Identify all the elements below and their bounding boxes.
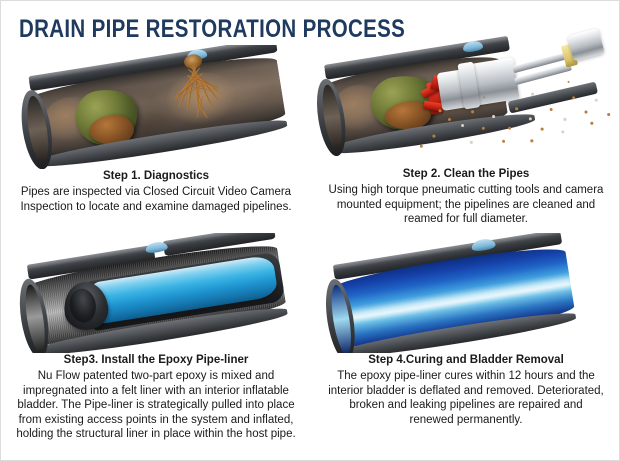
step-1-body: Pipes are inspected via Closed Circuit V… [9, 185, 303, 214]
step-panel-3: Step3. Install the Epoxy Pipe-liner Nu F… [1, 233, 311, 442]
step-2-heading: Step 2. Clean the Pipes [321, 167, 611, 182]
step-4-body: The epoxy pipe-liner cures within 12 hou… [327, 369, 605, 427]
step-4-caption: Step 4.Curing and Bladder Removal The ep… [311, 353, 620, 427]
pneumatic-cutting-tool-illustration [311, 27, 620, 167]
step-1-caption: Step 1. Diagnostics Pipes are inspected … [1, 169, 311, 214]
step-panel-4: Step 4.Curing and Bladder Removal The ep… [311, 233, 620, 427]
step-1-heading: Step 1. Diagnostics [9, 169, 303, 184]
step-3-body: Nu Flow patented two-part epoxy is mixed… [7, 369, 305, 442]
step-4-heading: Step 4.Curing and Bladder Removal [327, 353, 605, 368]
step-2-body: Using high torque pneumatic cutting tool… [321, 183, 611, 227]
step-2-caption: Step 2. Clean the Pipes Using high torqu… [311, 167, 620, 227]
infographic-page: DRAIN PIPE RESTORATION PROCESS [0, 0, 620, 461]
corroded-pipe-with-roots-illustration [1, 45, 311, 169]
step-3-caption: Step3. Install the Epoxy Pipe-liner Nu F… [1, 353, 311, 442]
step-panel-1: Step 1. Diagnostics Pipes are inspected … [1, 45, 311, 214]
cured-blue-liner-pipe-illustration [311, 233, 620, 353]
step-panel-2: Step 2. Clean the Pipes Using high torqu… [311, 27, 620, 227]
step-3-heading: Step3. Install the Epoxy Pipe-liner [7, 353, 305, 368]
epoxy-liner-bladder-illustration [1, 233, 311, 353]
tool-rear-block [567, 28, 605, 61]
